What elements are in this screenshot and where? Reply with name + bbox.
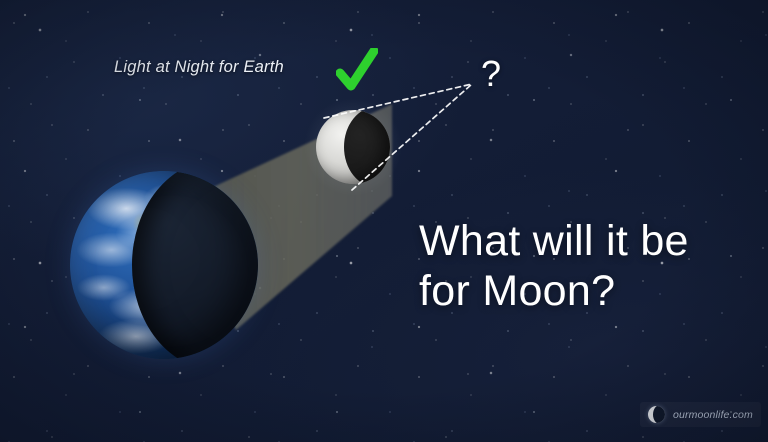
eclipse-infographic: Light at Night for Earth ? What will it … [0, 0, 768, 442]
watermark[interactable]: ourmoonlife.com [640, 402, 761, 427]
moon-phase-icon [648, 406, 665, 423]
earth-body [70, 171, 258, 359]
question-mark-label: ? [481, 56, 501, 92]
moon-body [316, 110, 390, 184]
watermark-site-label: ourmoonlife.com [673, 409, 753, 421]
headline-line-1: What will it be [419, 216, 689, 266]
moon-rim-shading [316, 110, 390, 184]
headline-line-2: for Moon? [419, 266, 689, 316]
moon-sphere [316, 110, 390, 184]
headline: What will it be for Moon? [419, 216, 689, 316]
green-check-mark-icon [336, 48, 378, 94]
earth-rim-shading [70, 171, 258, 359]
earth-sphere [70, 171, 258, 359]
earth-light-label: Light at Night for Earth [114, 58, 284, 77]
